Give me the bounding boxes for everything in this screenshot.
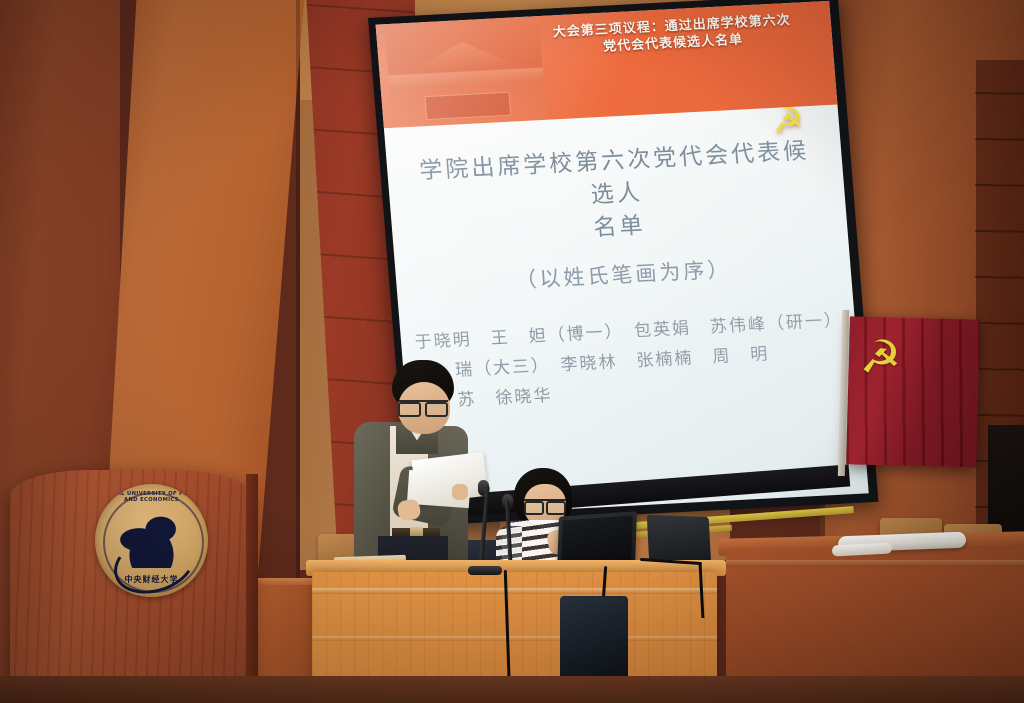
slide-subtitle: （以姓氏笔画为序） (418, 248, 829, 299)
emblem-chinese-text: 中央财经大学 (95, 574, 208, 585)
glasses-icon (524, 499, 566, 511)
lectern-side (246, 474, 258, 703)
slide-title-line-2: 名单 (414, 200, 825, 254)
laptop-display (561, 515, 633, 566)
front-desk-trim (312, 588, 717, 594)
slide-banner: 大会第三项议程：通过出席学校第六次 党代会代表候选人名单 (376, 1, 838, 128)
tiananmen-gate-image (385, 22, 547, 127)
wall-seam (296, 0, 300, 620)
emblem-english-text: CENTRAL UNIVERSITY OF FINANCE AND ECONOM… (95, 491, 208, 503)
university-emblem: CENTRAL UNIVERSITY OF FINANCE AND ECONOM… (95, 484, 208, 597)
slide-name-list: 于晓明 王 妲（博一） 包英娟 苏伟峰（研一） 瑞（大三） 李晓林 张楠楠 周 … (414, 307, 847, 418)
lecture-hall-photo: 大会第三项议程：通过出席学校第六次 党代会代表候选人名单 ☭ 学院出席学校第六次… (0, 0, 1024, 703)
side-table-trim (726, 560, 1024, 567)
slide-title: 学院出席学校第六次党代会代表候选人 名单 (409, 135, 825, 254)
microphone-base (468, 566, 502, 575)
hand (452, 484, 468, 500)
glasses-icon (398, 400, 448, 413)
chair-foreground (560, 596, 628, 680)
hammer-sickle-icon: ☭ (859, 333, 912, 386)
slide-title-line-1: 学院出席学校第六次党代会代表候选人 (418, 138, 810, 208)
floor (0, 676, 1024, 703)
slide-banner-text: 大会第三项议程：通过出席学校第六次 党代会代表候选人名单 (531, 12, 815, 60)
front-desk-trim (312, 636, 717, 641)
